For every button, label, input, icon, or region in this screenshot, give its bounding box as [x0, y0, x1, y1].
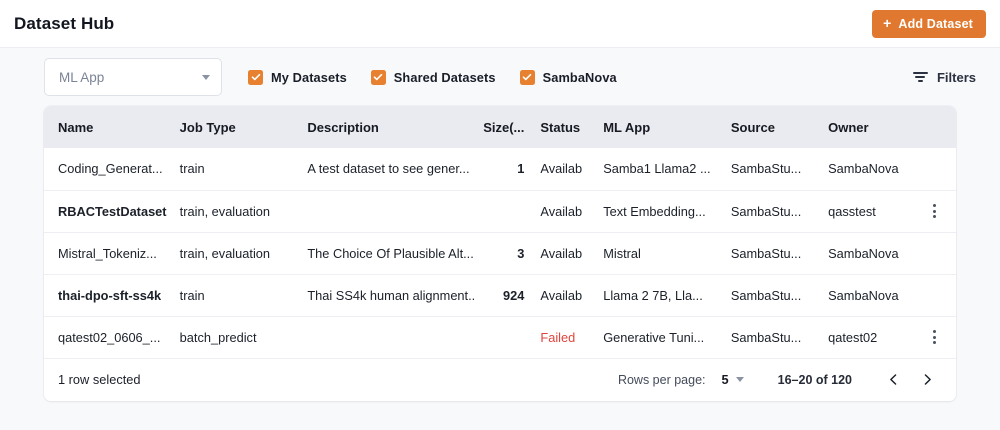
- cell-status: Failed: [532, 316, 595, 358]
- rows-per-page-select[interactable]: 5: [722, 372, 744, 387]
- table-footer: 1 row selected Rows per page: 5 16–20 of…: [44, 359, 956, 401]
- app-header: Dataset Hub + Add Dataset: [0, 0, 1000, 48]
- column-header-job-type[interactable]: Job Type: [172, 106, 300, 148]
- chevron-down-icon: [202, 75, 210, 80]
- column-header-size[interactable]: Size(...: [474, 106, 533, 148]
- dataset-hub-page: Dataset Hub + Add Dataset ML App My Data…: [0, 0, 1000, 430]
- cell-job-type: train: [172, 148, 300, 190]
- cell-size: [474, 316, 533, 358]
- cell-size: 924: [474, 274, 533, 316]
- cell-size: 1: [474, 148, 533, 190]
- cell-owner: SambaNova: [820, 148, 913, 190]
- rows-per-page-label: Rows per page:: [618, 373, 706, 387]
- checkbox-shared-datasets[interactable]: Shared Datasets: [371, 70, 496, 85]
- cell-description: Thai SS4k human alignment...: [299, 274, 473, 316]
- check-icon: [248, 70, 263, 85]
- ml-app-select[interactable]: ML App: [44, 58, 222, 96]
- cell-description: A test dataset to see gener...: [299, 148, 473, 190]
- filters-button[interactable]: Filters: [913, 70, 978, 85]
- cell-owner: SambaNova: [820, 232, 913, 274]
- cell-status: Availab: [532, 232, 595, 274]
- cell-name: thai-dpo-sft-ss4k: [44, 274, 172, 316]
- pagination-controls: Rows per page: 5 16–20 of 120: [618, 365, 942, 395]
- page-title: Dataset Hub: [14, 14, 114, 34]
- cell-status: Availab: [532, 274, 595, 316]
- table-row[interactable]: Coding_Generat... train A test dataset t…: [44, 148, 956, 190]
- table-body: Coding_Generat... train A test dataset t…: [44, 148, 956, 358]
- datasets-table: Name Job Type Description Size(... Statu…: [44, 106, 956, 359]
- cell-job-type: train, evaluation: [172, 232, 300, 274]
- cell-owner: qatest02: [820, 316, 913, 358]
- previous-page-button[interactable]: [878, 365, 908, 395]
- ml-app-select-value: ML App: [59, 70, 104, 85]
- column-header-status[interactable]: Status: [532, 106, 595, 148]
- cell-status: Availab: [532, 148, 595, 190]
- cell-owner: SambaNova: [820, 274, 913, 316]
- column-header-description[interactable]: Description: [299, 106, 473, 148]
- table-row[interactable]: thai-dpo-sft-ss4k train Thai SS4k human …: [44, 274, 956, 316]
- pagination-range: 16–20 of 120: [778, 373, 852, 387]
- filters-button-label: Filters: [937, 70, 976, 85]
- datasets-table-card: Name Job Type Description Size(... Statu…: [44, 106, 956, 401]
- checkbox-shared-datasets-label: Shared Datasets: [394, 70, 496, 85]
- selection-summary: 1 row selected: [58, 372, 141, 387]
- column-header-actions: [913, 106, 956, 148]
- add-dataset-label: Add Dataset: [898, 17, 973, 31]
- cell-name: RBACTestDataset: [44, 190, 172, 232]
- cell-ml-app: Mistral: [595, 232, 723, 274]
- cell-status: Availab: [532, 190, 595, 232]
- cell-description: The Choice Of Plausible Alt...: [299, 232, 473, 274]
- cell-ml-app: Text Embedding...: [595, 190, 723, 232]
- cell-ml-app: Llama 2 7B, Lla...: [595, 274, 723, 316]
- column-header-name[interactable]: Name: [44, 106, 172, 148]
- cell-size: 3: [474, 232, 533, 274]
- check-icon: [520, 70, 535, 85]
- cell-source: SambaStu...: [723, 232, 820, 274]
- cell-actions: [913, 190, 956, 232]
- table-row[interactable]: RBACTestDataset train, evaluation Availa…: [44, 190, 956, 232]
- row-menu-icon[interactable]: [921, 330, 948, 344]
- cell-ml-app: Samba1 Llama2 ...: [595, 148, 723, 190]
- checkbox-sambanova-label: SambaNova: [543, 70, 617, 85]
- cell-job-type: train: [172, 274, 300, 316]
- chevron-down-icon: [736, 377, 744, 382]
- rows-per-page-value: 5: [722, 372, 729, 387]
- cell-actions: [913, 232, 956, 274]
- cell-source: SambaStu...: [723, 316, 820, 358]
- checkbox-my-datasets[interactable]: My Datasets: [248, 70, 347, 85]
- table-header-row: Name Job Type Description Size(... Statu…: [44, 106, 956, 148]
- cell-job-type: train, evaluation: [172, 190, 300, 232]
- cell-source: SambaStu...: [723, 190, 820, 232]
- cell-actions: [913, 316, 956, 358]
- table-row[interactable]: qatest02_0606_... batch_predict Failed G…: [44, 316, 956, 358]
- column-header-owner[interactable]: Owner: [820, 106, 913, 148]
- checkbox-sambanova[interactable]: SambaNova: [520, 70, 617, 85]
- cell-description: [299, 316, 473, 358]
- cell-actions: [913, 274, 956, 316]
- row-menu-icon[interactable]: [921, 204, 948, 218]
- cell-ml-app: Generative Tuni...: [595, 316, 723, 358]
- table-header: Name Job Type Description Size(... Statu…: [44, 106, 956, 148]
- cell-actions: [913, 148, 956, 190]
- add-dataset-button[interactable]: + Add Dataset: [872, 10, 986, 38]
- filter-icon: [913, 72, 928, 82]
- check-icon: [371, 70, 386, 85]
- column-header-ml-app[interactable]: ML App: [595, 106, 723, 148]
- table-row[interactable]: Mistral_Tokeniz... train, evaluation The…: [44, 232, 956, 274]
- cell-name: qatest02_0606_...: [44, 316, 172, 358]
- cell-name: Mistral_Tokeniz...: [44, 232, 172, 274]
- cell-owner: qasstest: [820, 190, 913, 232]
- checkbox-my-datasets-label: My Datasets: [271, 70, 347, 85]
- plus-icon: +: [883, 16, 891, 30]
- next-page-button[interactable]: [912, 365, 942, 395]
- cell-job-type: batch_predict: [172, 316, 300, 358]
- column-header-source[interactable]: Source: [723, 106, 820, 148]
- filter-toolbar: ML App My Datasets Shared Datasets: [0, 48, 1000, 106]
- cell-name: Coding_Generat...: [44, 148, 172, 190]
- cell-source: SambaStu...: [723, 274, 820, 316]
- filter-checkbox-group: My Datasets Shared Datasets SambaNova: [248, 70, 641, 85]
- cell-source: SambaStu...: [723, 148, 820, 190]
- cell-description: [299, 190, 473, 232]
- cell-size: [474, 190, 533, 232]
